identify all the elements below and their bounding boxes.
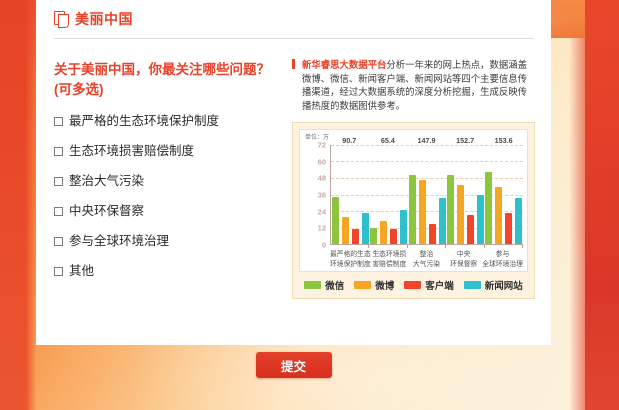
checkbox-icon[interactable] (54, 207, 63, 216)
x-label-line: 中央 (445, 250, 482, 260)
survey-option-label: 整治大气污染 (69, 174, 144, 189)
group-total-3: 147.9 (407, 136, 446, 145)
survey-option-label: 其他 (69, 264, 94, 279)
bar-客户端-4 (467, 215, 474, 244)
chart-inner: 单位：万 90.765.4147.9152.7153.6 72604836241… (299, 129, 528, 272)
x-label-line: 最严格的生态 (330, 250, 371, 260)
page-root: 美丽中国 关于美丽中国，你最关注哪些问题？(可多选) 最严格的生态环境保护制度生… (0, 0, 619, 410)
legend-item-1: 微信 (304, 278, 344, 292)
chart-panel: 单位：万 90.765.4147.9152.7153.6 72604836241… (292, 122, 535, 299)
submit-area: 提交 (36, 352, 551, 378)
chart-x-axis: 最严格的生态环境保护制度生态环境损害赔偿制度整治大气污染中央环保督察参与全球环境… (304, 250, 523, 269)
legend-swatch-icon (404, 281, 421, 289)
survey-option-label: 中央环保督察 (69, 204, 144, 219)
question-column: 关于美丽中国，你最关注哪些问题？(可多选) 最严格的生态环境保护制度生态环境损害… (54, 60, 282, 294)
checkbox-icon[interactable] (54, 267, 63, 276)
y-tick-0: 0 (322, 241, 326, 250)
survey-option-6[interactable]: 其他 (54, 264, 282, 279)
x-tick-mark-2 (407, 244, 408, 248)
survey-option-5[interactable]: 参与全球环境治理 (54, 234, 282, 249)
x-label-line: 大气污染 (408, 260, 445, 270)
checkbox-icon[interactable] (54, 117, 63, 126)
bar-新闻网站-2 (400, 210, 407, 244)
survey-option-label: 最严格的生态环境保护制度 (69, 114, 219, 129)
survey-option-label: 生态环境损害赔偿制度 (69, 144, 194, 159)
legend-item-2: 微博 (354, 278, 394, 292)
description-highlight: 新华睿思大数据平台 (302, 59, 386, 70)
decorative-left-stripe-inner (26, 0, 36, 410)
bar-新闻网站-1 (362, 213, 369, 244)
bar-客户端-2 (390, 229, 397, 244)
bar-微信-3 (409, 175, 416, 244)
x-label-3: 整治大气污染 (408, 250, 445, 269)
bar-group-3 (408, 145, 446, 244)
checkbox-icon[interactable] (54, 237, 63, 246)
legend-label: 客户端 (425, 278, 454, 292)
bar-group-2 (369, 145, 407, 244)
checkbox-icon[interactable] (54, 177, 63, 186)
bar-group-4 (446, 145, 484, 244)
survey-option-4[interactable]: 中央环保督察 (54, 204, 282, 219)
x-label-2: 生态环境损害赔偿制度 (371, 250, 408, 269)
y-tick-12: 12 (318, 224, 326, 233)
decorative-left-stripe (0, 0, 26, 410)
chart-plot (330, 145, 523, 245)
chart-y-axis: 7260483624120 (304, 145, 330, 245)
card-header: 美丽中国 (36, 0, 181, 38)
bar-客户端-1 (352, 229, 359, 244)
group-total-2: 65.4 (369, 136, 408, 145)
legend-label: 微信 (325, 278, 344, 292)
description-text: 新华睿思大数据平台分析一年来的网上热点，数据涵盖微博、微信、新闻客户端、新闻网站… (292, 58, 535, 112)
bar-微博-2 (380, 221, 387, 244)
bar-微信-5 (485, 172, 492, 244)
checkbox-icon[interactable] (54, 147, 63, 156)
legend-item-4: 新闻网站 (464, 278, 523, 292)
survey-option-3[interactable]: 整治大气污染 (54, 174, 282, 189)
x-label-line: 环境保护制度 (330, 260, 371, 270)
bar-新闻网站-3 (439, 198, 446, 244)
bar-微博-5 (495, 187, 502, 244)
x-label-line: 参与 (482, 250, 523, 260)
chart-legend: 微信微博客户端新闻网站 (299, 272, 528, 294)
y-tick-24: 24 (318, 207, 326, 216)
bar-新闻网站-5 (515, 198, 522, 244)
chart-group-totals: 90.765.4147.9152.7153.6 (304, 134, 523, 145)
bar-微信-1 (332, 197, 339, 244)
legend-label: 新闻网站 (485, 278, 523, 292)
y-tick-72: 72 (318, 141, 326, 150)
x-tick-mark-5 (522, 244, 523, 248)
decorative-right-band (585, 0, 619, 410)
bar-微博-3 (419, 180, 426, 244)
survey-option-1[interactable]: 最严格的生态环境保护制度 (54, 114, 282, 129)
x-tick-mark-3 (445, 244, 446, 248)
page-title: 关于美丽中国，你最关注哪些问题？(可多选) (54, 60, 282, 100)
bar-新闻网站-4 (477, 195, 484, 245)
x-label-line: 整治 (408, 250, 445, 260)
header-divider (54, 38, 533, 39)
x-label-line: 害赔偿制度 (371, 260, 408, 270)
brand-title: 美丽中国 (75, 9, 133, 29)
chart-bar-groups (331, 145, 523, 244)
x-tick-mark-1 (368, 244, 369, 248)
survey-option-label: 参与全球环境治理 (69, 234, 169, 249)
x-label-5: 参与全球环境治理 (482, 250, 523, 269)
submit-button[interactable]: 提交 (256, 352, 332, 378)
x-label-line: 环保督察 (445, 260, 482, 270)
survey-card: 美丽中国 关于美丽中国，你最关注哪些问题？(可多选) 最严格的生态环境保护制度生… (36, 0, 551, 345)
data-column: 新华睿思大数据平台分析一年来的网上热点，数据涵盖微博、微信、新闻客户端、新闻网站… (292, 58, 535, 299)
bar-group-1 (331, 145, 369, 244)
y-tick-60: 60 (318, 157, 326, 166)
bar-微信-2 (370, 228, 377, 244)
x-label-line: 生态环境损 (371, 250, 408, 260)
bar-group-5 (485, 145, 523, 244)
legend-label: 微博 (375, 278, 394, 292)
document-stack-icon (54, 11, 68, 27)
legend-swatch-icon (304, 281, 321, 289)
legend-swatch-icon (354, 281, 371, 289)
y-tick-48: 48 (318, 174, 326, 183)
bar-客户端-5 (505, 213, 512, 244)
x-label-line: 全球环境治理 (482, 260, 523, 270)
legend-item-3: 客户端 (404, 278, 454, 292)
y-tick-36: 36 (318, 191, 326, 200)
group-total-5: 153.6 (484, 136, 523, 145)
bar-微信-4 (447, 175, 454, 244)
x-label-1: 最严格的生态环境保护制度 (330, 250, 371, 269)
decorative-right-band-soft (569, 0, 585, 410)
survey-option-2[interactable]: 生态环境损害赔偿制度 (54, 144, 282, 159)
group-total-4: 152.7 (446, 136, 485, 145)
bar-微博-1 (342, 217, 349, 245)
bar-客户端-3 (429, 224, 436, 244)
legend-swatch-icon (464, 281, 481, 289)
x-label-4: 中央环保督察 (445, 250, 482, 269)
chart-plot-area: 7260483624120 (304, 145, 523, 245)
group-total-1: 90.7 (330, 136, 369, 145)
options-list: 最严格的生态环境保护制度生态环境损害赔偿制度整治大气污染中央环保督察参与全球环境… (54, 114, 282, 279)
x-tick-mark-4 (484, 244, 485, 248)
bar-微博-4 (457, 185, 464, 244)
card-body: 关于美丽中国，你最关注哪些问题？(可多选) 最严格的生态环境保护制度生态环境损害… (36, 38, 551, 345)
